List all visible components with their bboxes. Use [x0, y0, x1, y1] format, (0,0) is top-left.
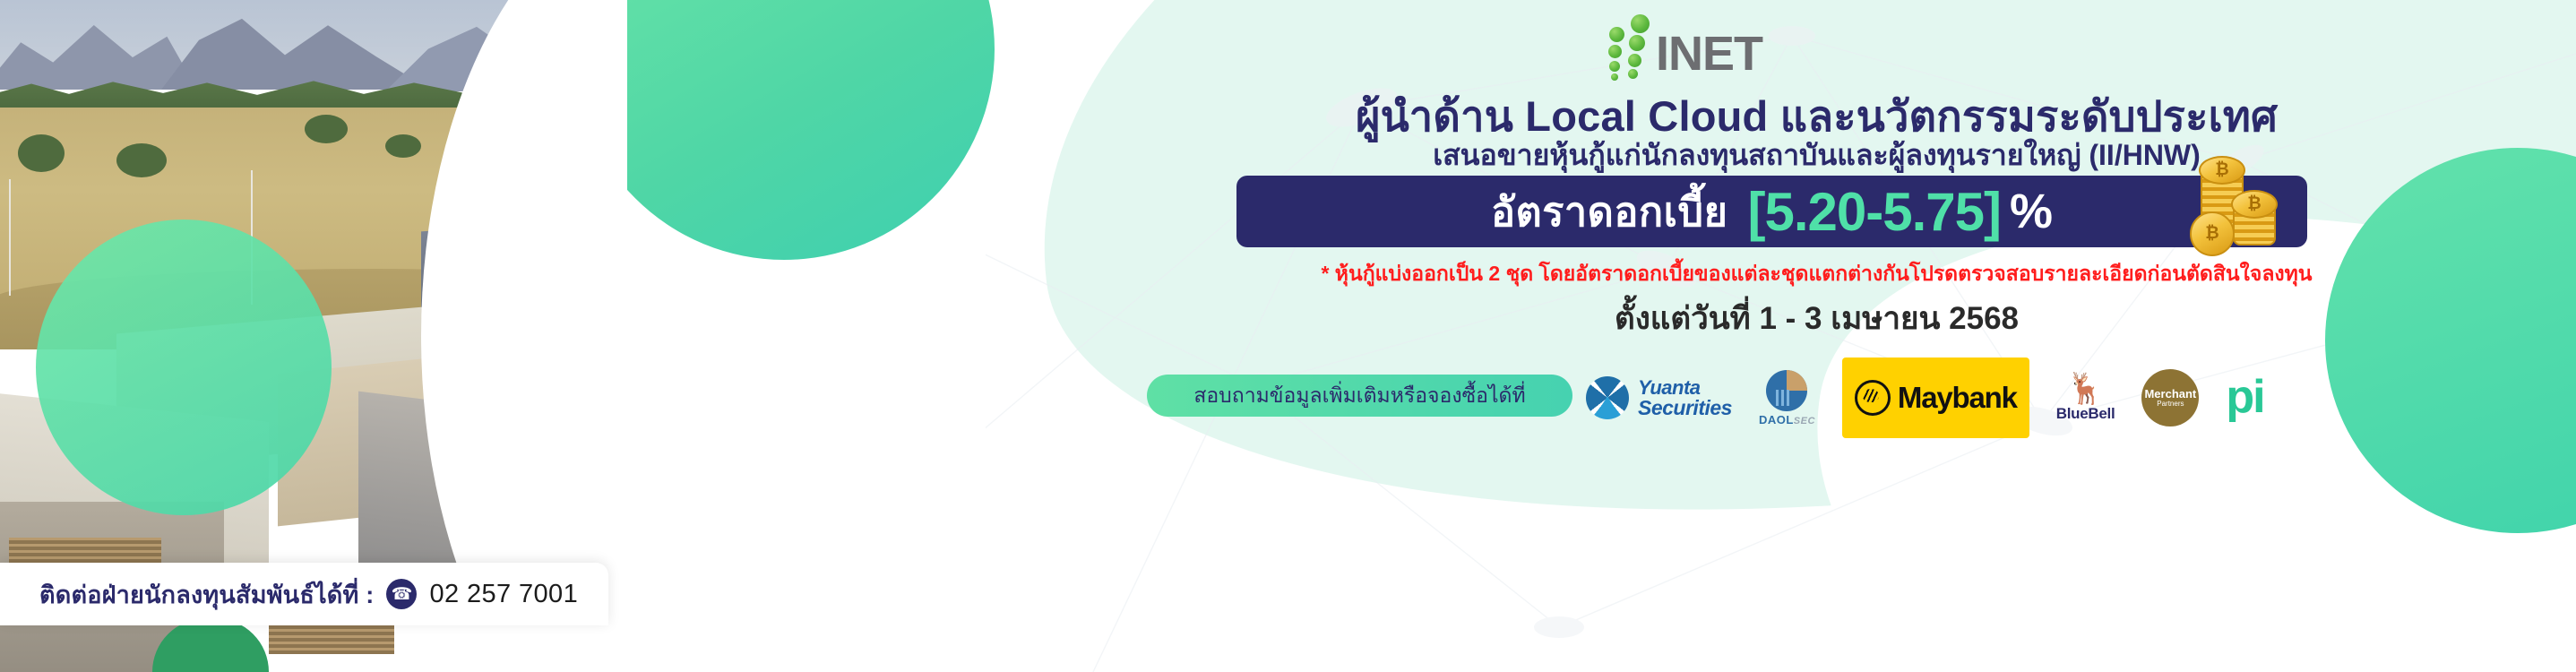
inet-logo[interactable]: INET [1606, 13, 1762, 77]
daol-donut-icon [1766, 370, 1807, 411]
yuanta-star-icon [1586, 376, 1629, 419]
photo-tree [18, 134, 65, 172]
promo-banner: ติดต่อฝ่ายนักลงทุนสัมพันธ์ได้ที่ : ☎ 02 … [0, 0, 2576, 672]
merchant-circle-icon: Merchant Partners [2141, 369, 2199, 426]
partner-logo-daol[interactable]: DAOLSEC [1759, 363, 1815, 433]
daol-name-line1: DAOL [1759, 413, 1794, 426]
bluebell-deer-icon: 🦌 [2066, 374, 2104, 404]
interest-rate-box: อัตราดอกเบี้ย [5.20-5.75] % [1236, 176, 2307, 247]
phone-icon: ☎ [386, 579, 417, 609]
yuanta-name-line2: Securities [1638, 398, 1732, 418]
partner-logo-yuanta[interactable]: Yuanta Securities [1586, 363, 1732, 433]
interest-rate-percent: % [2010, 184, 2053, 239]
daol-name-line2: SEC [1794, 416, 1815, 426]
interest-rate-label: อัตราดอกเบี้ย [1491, 179, 1728, 244]
merchant-name-line2: Partners [2157, 401, 2184, 408]
photo-pole [9, 179, 11, 296]
partner-logo-bluebell[interactable]: 🦌 BlueBell [2056, 363, 2115, 433]
bitcoin-coins-icon: ₿ ₿ ₿ [2186, 159, 2294, 258]
photo-tree [385, 134, 421, 158]
partner-logos: Yuanta Securities DAOLSEC Maybank 🦌 Blue… [1586, 357, 2554, 439]
inet-logo-text: INET [1656, 32, 1762, 77]
investor-contact-strip: ติดต่อฝ่ายนักลงทุนสัมพันธ์ได้ที่ : ☎ 02 … [0, 563, 608, 625]
pi-wordmark-icon: pi [2226, 379, 2263, 417]
inet-dots-logo-icon [1606, 13, 1652, 77]
promo-content: INET ผู้นำด้าน Local Cloud และนวัตกรรมระ… [1057, 0, 2576, 672]
partner-logo-pi[interactable]: pi [2226, 363, 2263, 433]
offering-dates: ตั้งแต่วันที่ 1 - 3 เมษายน 2568 [1057, 294, 2576, 343]
maybank-tiger-icon [1855, 380, 1891, 416]
contact-phone-number[interactable]: 02 257 7001 [429, 580, 578, 609]
interest-rate-value: [5.20-5.75] [1747, 181, 2001, 243]
disclaimer-note: * หุ้นกู้แบ่งออกเป็น 2 ชุด โดยอัตราดอกเบ… [1057, 258, 2576, 290]
green-blob-left [36, 220, 332, 515]
photo-tree [116, 143, 167, 177]
merchant-name-line1: Merchant [2144, 388, 2196, 401]
maybank-name: Maybank [1898, 381, 2017, 415]
page-subtitle: เสนอขายหุ้นกู้แก่นักลงทุนสถาบันและผู้ลงท… [1057, 133, 2576, 178]
bluebell-name: BlueBell [2056, 405, 2115, 423]
inquiry-cta-button[interactable]: สอบถามข้อมูลเพิ่มเติมหรือจองซื้อได้ที่ [1147, 375, 1572, 417]
partner-logo-merchant-partners[interactable]: Merchant Partners [2141, 363, 2199, 433]
photo-tree [305, 115, 348, 143]
yuanta-name-line1: Yuanta [1638, 378, 1732, 398]
partner-logo-maybank[interactable]: Maybank [1842, 358, 2029, 438]
contact-label: ติดต่อฝ่ายนักลงทุนสัมพันธ์ได้ที่ : [39, 575, 374, 614]
